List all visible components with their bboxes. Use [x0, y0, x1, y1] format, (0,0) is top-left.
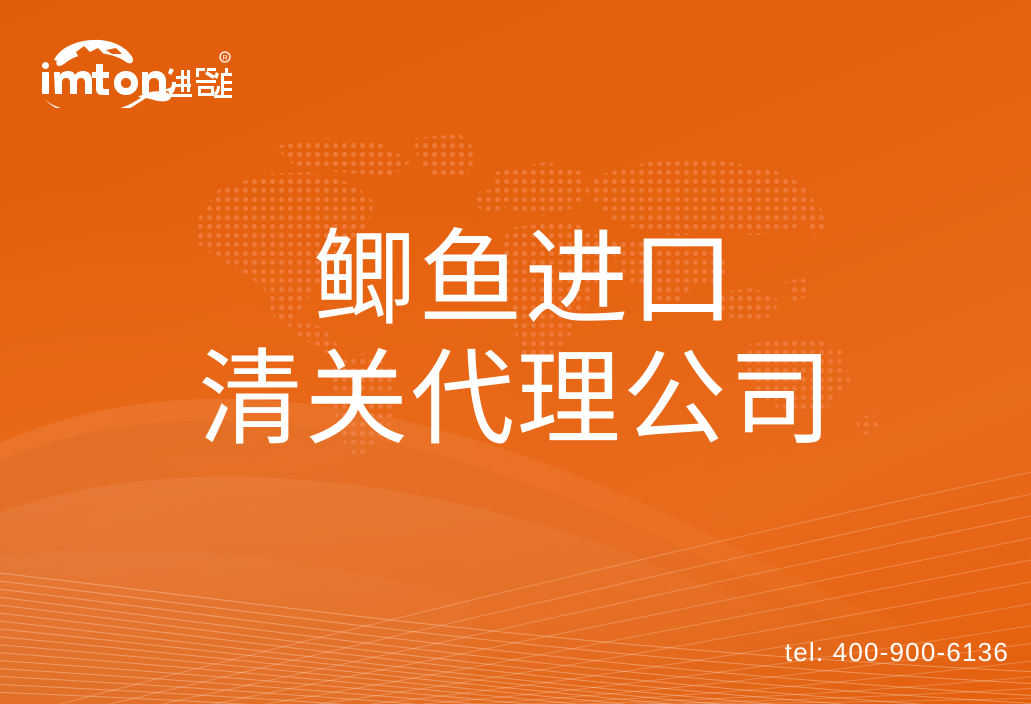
brand-logo[interactable]: R [36, 28, 232, 108]
wordmark-shape [42, 62, 166, 95]
registered-trademark-icon: R [220, 52, 230, 62]
chinese-name-shape [168, 68, 232, 98]
banner-canvas: R 鲫鱼进口 清关代理公司 tel: 400-900-6136 [0, 0, 1031, 704]
globe-icon [54, 40, 133, 66]
svg-text:R: R [222, 55, 227, 62]
contact-phone[interactable]: tel: 400-900-6136 [785, 637, 1009, 668]
